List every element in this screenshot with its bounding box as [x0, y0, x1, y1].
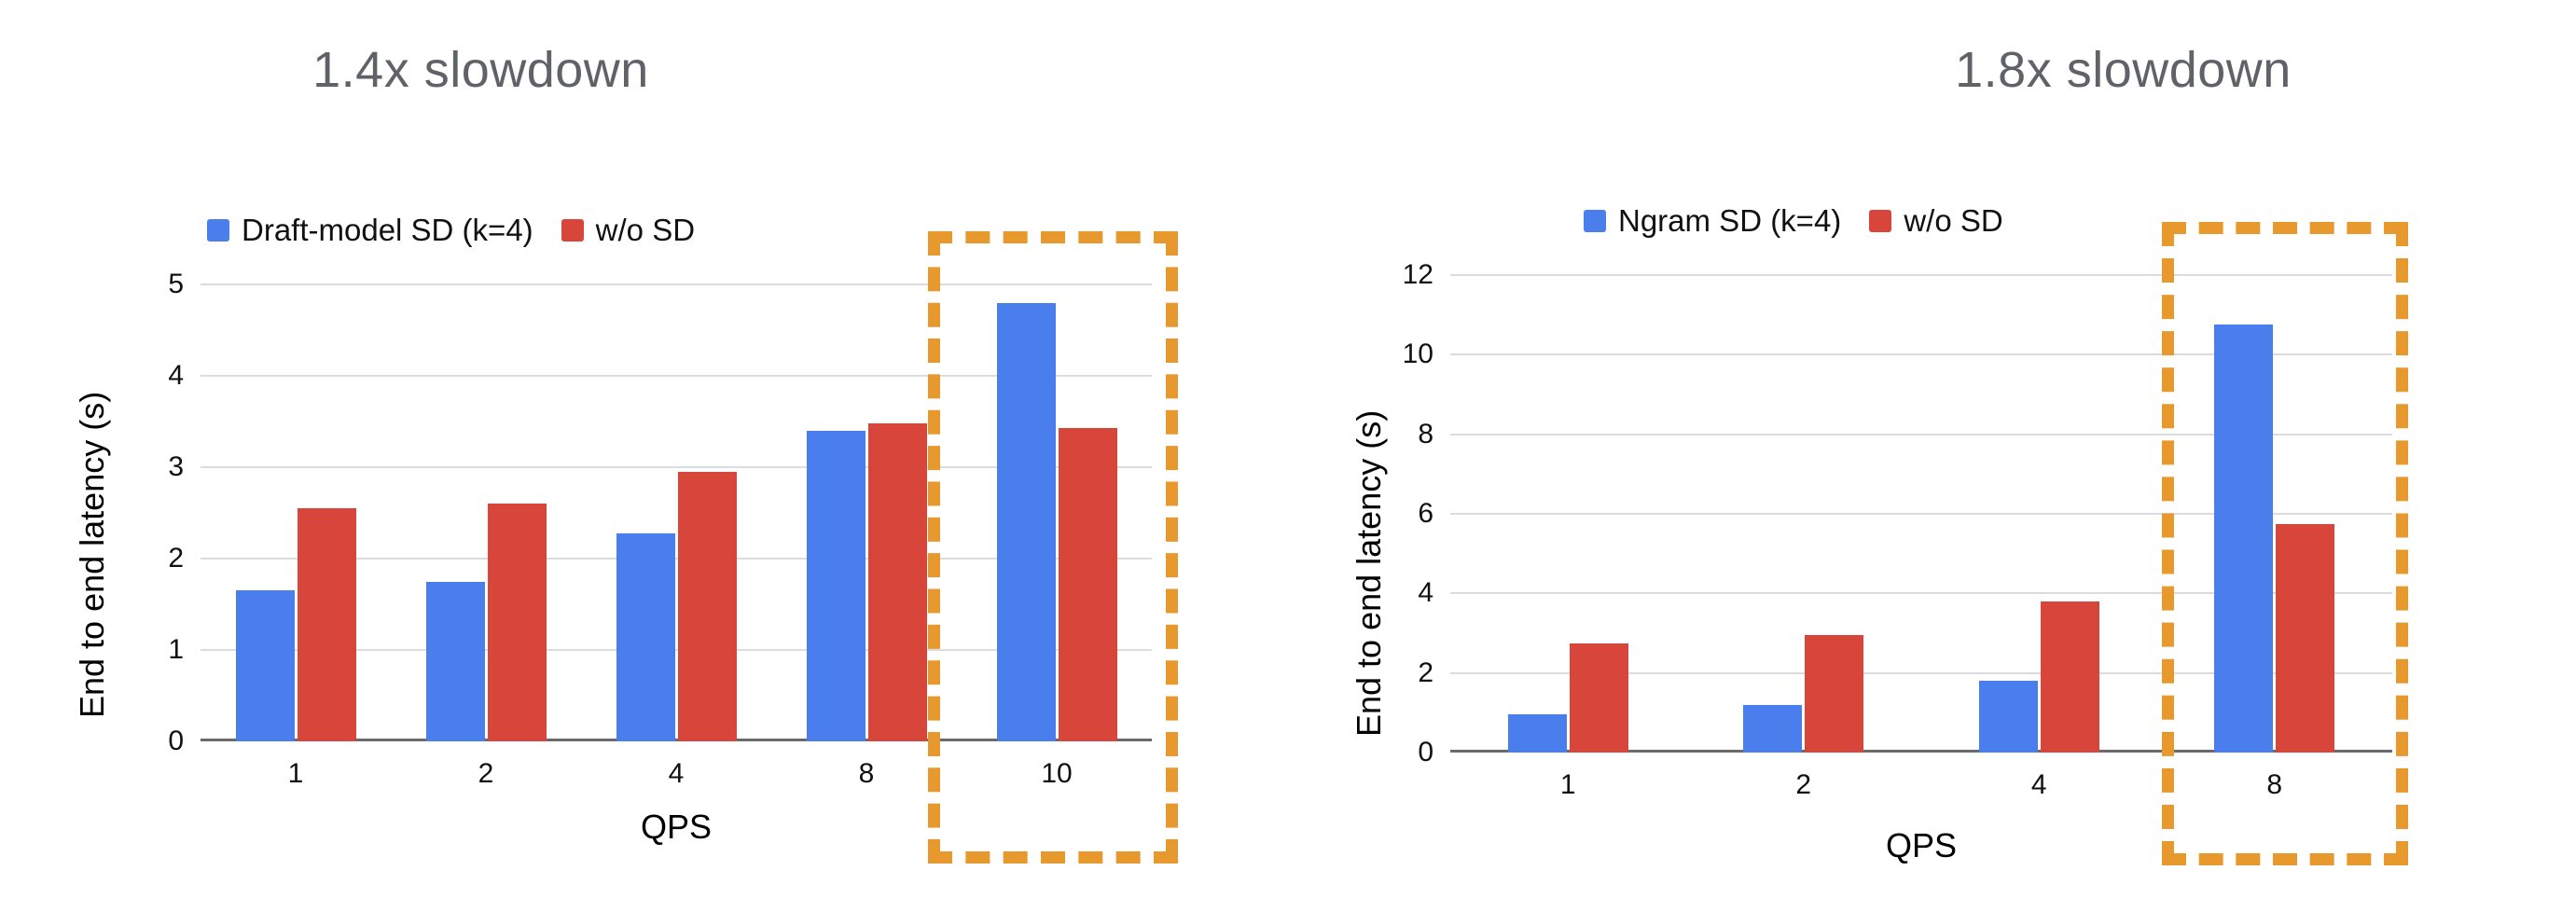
x-axis-tick-1: 1 [288, 758, 304, 790]
y-axis-tick-right: 12 [1403, 259, 1433, 291]
legend-label-blue: Draft-model SD (k=4) [242, 213, 533, 248]
y-axis-tick-right: 6 [1418, 498, 1433, 530]
bar-red-2[interactable] [1805, 635, 1863, 753]
bar-red-4[interactable] [2041, 601, 2099, 753]
y-axis-title-right: End to end latency (s) [1350, 410, 1389, 737]
bar-red-1[interactable] [1570, 643, 1628, 753]
legend-label-red: w/o SD [596, 213, 695, 248]
bar-group: 2 [1686, 275, 1922, 753]
chart-legend-left: Draft-model SD (k=4) w/o SD [207, 213, 695, 248]
chart-legend-right: Ngram SD (k=4) w/o SD [1584, 203, 2003, 239]
bar-red-1[interactable] [298, 508, 356, 741]
legend-item-ngram-sd[interactable]: Ngram SD (k=4) [1584, 203, 1841, 239]
y-axis-tick-left: 4 [168, 360, 184, 392]
y-axis-tick-right: 4 [1418, 577, 1433, 609]
panel-title-left: 1.4x slowdown [0, 41, 1125, 99]
legend-label-blue: Ngram SD (k=4) [1618, 203, 1841, 239]
y-axis-tick-left: 5 [168, 269, 184, 300]
bar-blue-1[interactable] [1508, 714, 1567, 753]
bar-group: 1 [201, 284, 391, 741]
x-axis-tick-8: 8 [859, 758, 875, 790]
legend-label-red: w/o SD [1904, 203, 2002, 239]
bar-blue-4[interactable] [1979, 681, 2038, 753]
chart-panel-left: 1.4x slowdown Draft-model SD (k=4) w/o S… [0, 0, 1288, 912]
y-axis-tick-right: 10 [1403, 339, 1433, 370]
x-axis-tick-4: 4 [669, 758, 685, 790]
bar-group: 4 [581, 284, 771, 741]
legend-item-wo-sd[interactable]: w/o SD [1869, 203, 2002, 239]
bar-group: 2 [391, 284, 581, 741]
y-axis-tick-left: 3 [168, 451, 184, 483]
y-axis-tick-left: 1 [168, 634, 184, 666]
bar-red-4[interactable] [678, 472, 737, 741]
bar-red-2[interactable] [488, 504, 547, 741]
legend-swatch-red-icon [561, 219, 584, 242]
bar-blue-1[interactable] [236, 590, 295, 741]
y-axis-tick-right: 2 [1418, 657, 1433, 689]
bar-blue-4[interactable] [616, 533, 675, 741]
bar-blue-8[interactable] [807, 431, 866, 741]
bar-blue-2[interactable] [426, 582, 485, 742]
y-axis-title-left: End to end latency (s) [73, 392, 112, 718]
bar-group: 1 [1450, 275, 1686, 753]
highlight-box-left [928, 231, 1178, 864]
panel-title-right: 1.8x slowdown [1479, 41, 2576, 99]
bar-blue-2[interactable] [1743, 705, 1802, 753]
legend-item-draft-model-sd[interactable]: Draft-model SD (k=4) [207, 213, 533, 248]
legend-swatch-blue-icon [207, 219, 229, 242]
bar-red-8[interactable] [868, 423, 927, 741]
x-axis-tick-4: 4 [2031, 769, 2047, 801]
legend-item-wo-sd[interactable]: w/o SD [561, 213, 695, 248]
legend-swatch-blue-icon [1584, 210, 1606, 232]
y-axis-tick-right: 8 [1418, 419, 1433, 450]
highlight-box-right [2162, 222, 2408, 865]
y-axis-tick-left: 2 [168, 543, 184, 574]
x-axis-tick-2: 2 [1795, 769, 1811, 801]
x-axis-tick-2: 2 [478, 758, 494, 790]
y-axis-tick-left: 0 [168, 725, 184, 757]
legend-swatch-red-icon [1869, 210, 1891, 232]
x-axis-tick-1: 1 [1560, 769, 1576, 801]
y-axis-tick-right: 0 [1418, 737, 1433, 768]
bar-group: 4 [1921, 275, 2157, 753]
